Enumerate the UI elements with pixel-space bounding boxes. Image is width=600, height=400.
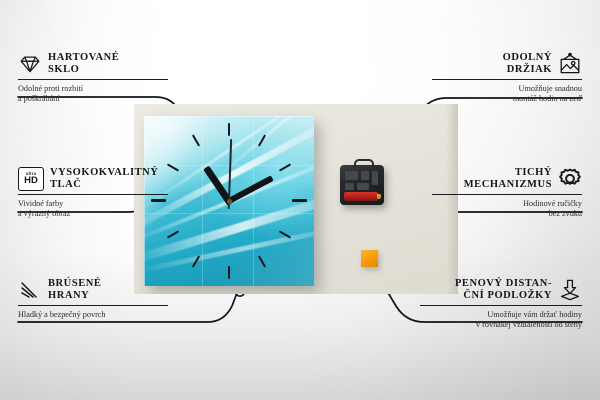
feature-desc-line2: v rovnakej vzdialenosti od steny — [420, 320, 582, 330]
wall-mount-frame-icon — [558, 52, 582, 76]
feature-divider — [18, 79, 168, 80]
feature-title-line1: ODOLNÝ — [503, 52, 552, 64]
feature-ground-edges: BRÚSENÉ HRANY Hladký a bezpečný povrch — [18, 278, 168, 320]
feature-durable-mount: ODOLNÝ DRŽIAK Umožňuje snadnou montáž ho… — [432, 52, 582, 105]
feature-title-line2: TLAČ — [50, 179, 158, 191]
feature-title-line2: MECHANIZMUS — [464, 179, 552, 191]
feature-desc-line1: Hladký a bezpečný povrch — [18, 310, 168, 320]
feature-divider — [420, 305, 582, 306]
feature-desc-line2: a poškrábání — [18, 94, 168, 104]
gear-icon — [558, 167, 582, 191]
mechanism-battery — [344, 192, 378, 201]
feature-desc-line1: Hodinové ručičky — [432, 199, 582, 209]
badge-label-main: HD — [24, 176, 38, 186]
feature-title-line2: SKLO — [48, 64, 119, 76]
ground-edges-icon — [18, 278, 42, 302]
feature-desc-line1: Umožňuje vám držať hodiny — [420, 310, 582, 320]
feature-high-quality-print: ultra HD VYSOKOKVALITNÝ TLAČ Vividné far… — [18, 167, 168, 220]
feature-title-line1: TICHÝ — [464, 167, 552, 179]
feature-desc-line2: bez zvuku — [432, 209, 582, 219]
feature-desc-line1: Umožňuje snadnou — [432, 84, 582, 94]
feature-divider — [432, 79, 582, 80]
feature-title-line1: HARTOVANÉ — [48, 52, 119, 64]
foam-spacer-pad — [361, 250, 378, 267]
feature-title-line1: VYSOKOKVALITNÝ — [50, 167, 158, 179]
clock-mechanism — [340, 165, 384, 205]
feature-desc-line1: Odolné proti rozbití — [18, 84, 168, 94]
feature-divider — [432, 194, 582, 195]
feature-silent-mechanism: TICHÝ MECHANIZMUS Hodinové ručičky bez z… — [432, 167, 582, 220]
feature-divider — [18, 305, 168, 306]
feature-title-line1: PENOVÝ DISTAN- — [455, 278, 552, 290]
infographic-canvas: HARTOVANÉ SKLO Odolné proti rozbití a po… — [0, 0, 600, 400]
product-photo — [134, 104, 458, 294]
feature-tempered-glass: HARTOVANÉ SKLO Odolné proti rozbití a po… — [18, 52, 168, 105]
feature-title-line2: HRANY — [48, 290, 101, 302]
feature-desc-line2: a výrazný obraz — [18, 209, 168, 219]
clock-center-pin — [227, 199, 232, 204]
foam-spacer-icon — [558, 278, 582, 302]
feature-title-line2: DRŽIAK — [503, 64, 552, 76]
ultra-hd-badge-icon: ultra HD — [18, 167, 44, 191]
feature-title-line1: BRÚSENÉ — [48, 278, 101, 290]
mechanism-hanger-icon — [354, 159, 374, 169]
diamond-icon — [18, 52, 42, 76]
wall-clock — [144, 116, 314, 286]
feature-title-line2: ČNÍ PODLOŽKY — [455, 290, 552, 302]
feature-desc-line2: montáž hodin na zeď — [432, 94, 582, 104]
feature-desc-line1: Vividné farby — [18, 199, 168, 209]
feature-foam-spacers: PENOVÝ DISTAN- ČNÍ PODLOŽKY Umožňuje vám… — [420, 278, 582, 331]
feature-divider — [18, 194, 168, 195]
